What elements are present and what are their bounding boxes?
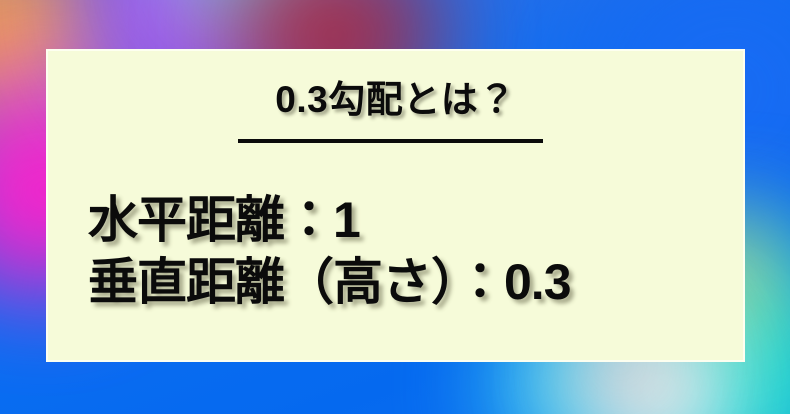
slide-canvas: 0.3勾配とは？ 水平距離：1 垂直距離（高さ）：0.3 — [0, 0, 790, 414]
title-underline-rule — [238, 139, 543, 143]
body-line-vertical-distance: 垂直距離（高さ）：0.3 — [88, 251, 735, 313]
title-row: 0.3勾配とは？ — [48, 79, 743, 120]
content-card-inner: 0.3勾配とは？ 水平距離：1 垂直距離（高さ）：0.3 — [48, 51, 743, 360]
card-title: 0.3勾配とは？ — [275, 79, 515, 120]
body-line-horizontal-distance: 水平距離：1 — [88, 189, 735, 251]
content-card: 0.3勾配とは？ 水平距離：1 垂直距離（高さ）：0.3 — [46, 49, 745, 362]
card-body: 水平距離：1 垂直距離（高さ）：0.3 — [88, 189, 735, 313]
